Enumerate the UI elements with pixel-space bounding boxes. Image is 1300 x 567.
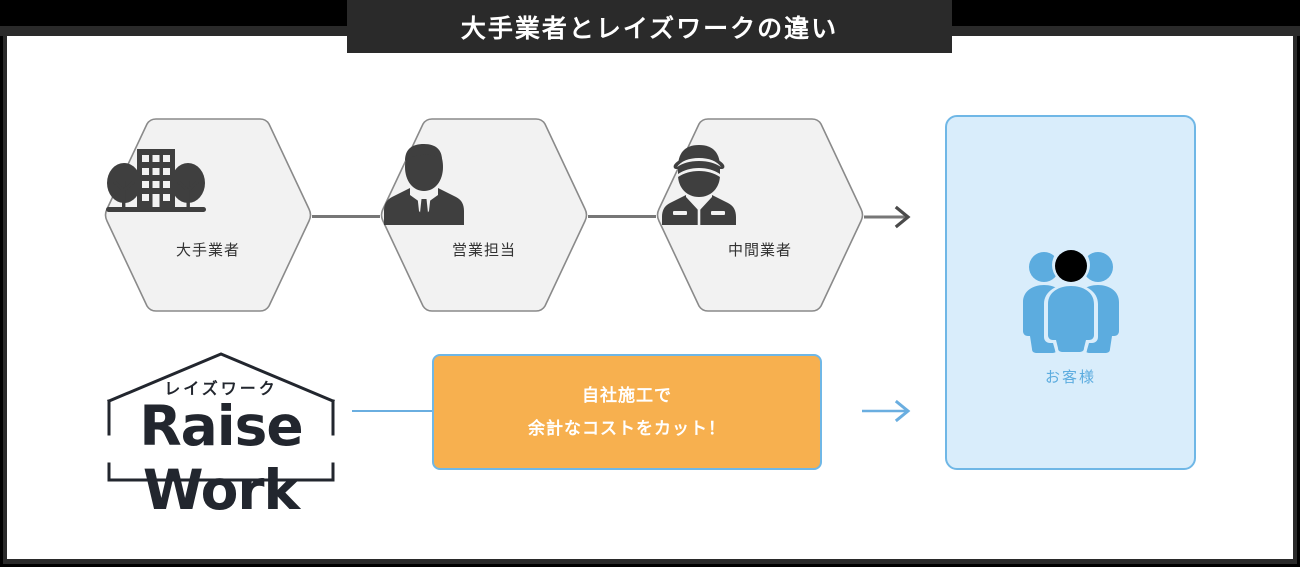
arrow-to-customer-gray: [864, 204, 914, 230]
callout-line-2: 余計なコストをカット！: [528, 412, 726, 445]
flow-node-2[interactable]: 営業担当: [380, 117, 588, 313]
flow-node-3[interactable]: 中間業者: [656, 117, 864, 313]
callout-box[interactable]: 自社施工で 余計なコストをカット！: [432, 354, 822, 470]
diagram-root: 大手業者とレイズワークの違い: [0, 0, 1300, 567]
flow-node-2-label: 営業担当: [380, 239, 588, 260]
businessman-icon: [380, 143, 588, 229]
connector-node1-node2: [312, 215, 380, 218]
customer-label: お客様: [947, 366, 1194, 387]
arrow-to-customer-blue: [862, 398, 914, 424]
customer-card[interactable]: お客様: [945, 115, 1196, 470]
worker-cap-icon: [656, 143, 864, 229]
flow-node-1-label: 大手業者: [104, 239, 312, 260]
three-people-icon: [947, 245, 1194, 355]
connector-node2-node3: [588, 215, 656, 218]
building-trees-icon: [104, 143, 312, 229]
connector-logo-callout: [352, 410, 434, 412]
logo-name: Raise Work: [97, 394, 345, 522]
diagram-stage: 大手業者: [0, 36, 1300, 567]
raise-work-logo: レイズワーク Raise Work: [97, 346, 345, 488]
title-badge: 大手業者とレイズワークの違い: [347, 0, 952, 53]
callout-line-1: 自社施工で: [582, 379, 672, 412]
flow-node-1[interactable]: 大手業者: [104, 117, 312, 313]
flow-node-3-label: 中間業者: [656, 239, 864, 260]
page-title: 大手業者とレイズワークの違い: [461, 9, 838, 45]
